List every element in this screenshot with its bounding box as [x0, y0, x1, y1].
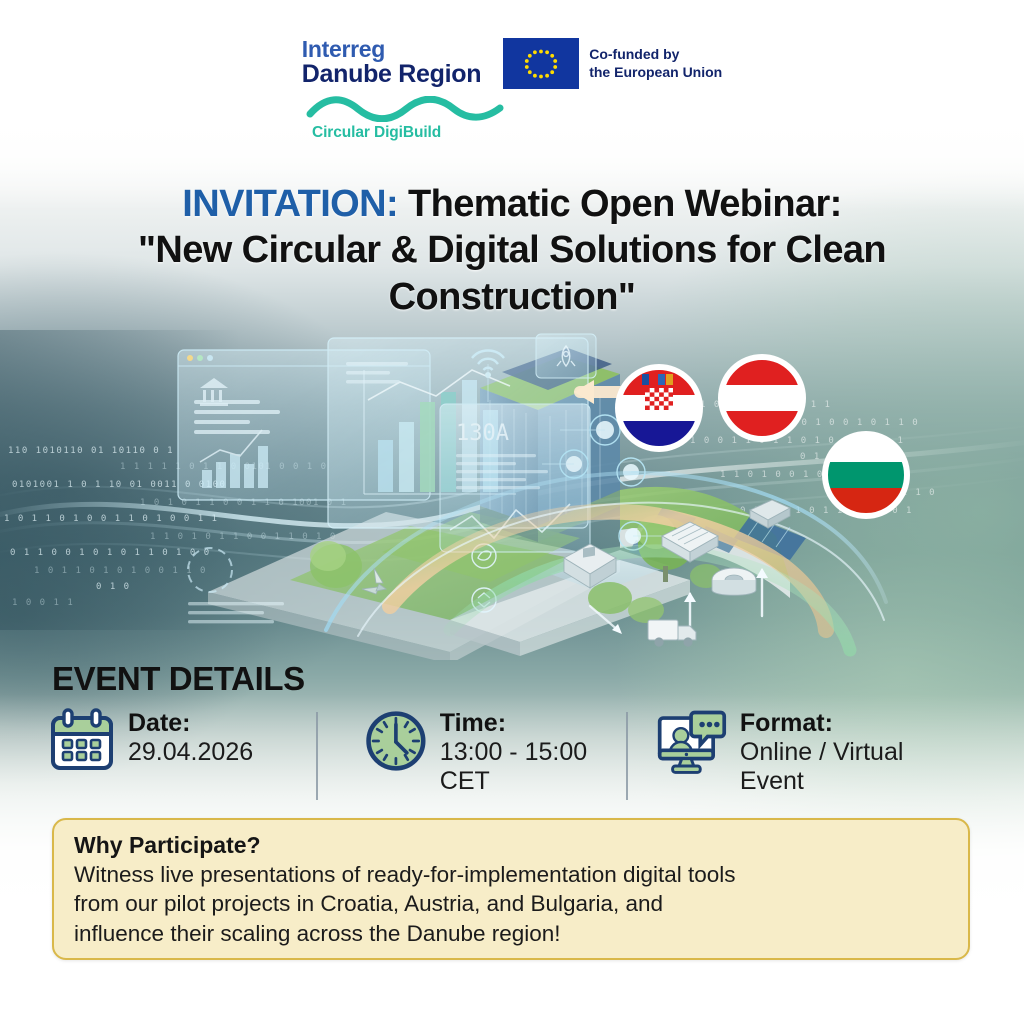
time-label: Time: — [440, 710, 626, 737]
hero-illustration: 130A — [150, 330, 910, 660]
croatia-flag — [618, 367, 700, 449]
hud-value-label: 130A — [456, 421, 509, 446]
clock-icon — [364, 706, 428, 776]
eu-label-line1: Co-funded by — [589, 46, 722, 64]
circular-digibuild-logo: Circular DigiBuild — [306, 96, 516, 142]
event-details-heading: EVENT DETAILS — [52, 660, 305, 698]
poster-canvas: 110 1010110 01 10110 0 1 1 1 1 1 1 0 1 1… — [0, 0, 1024, 1024]
donut-chart-icon — [188, 548, 232, 592]
event-detail-date: Date: 29.04.2026 — [48, 706, 316, 774]
wave-icon — [306, 96, 506, 122]
logo-row: Interreg Danube Region — [0, 36, 1024, 89]
eu-label-line2: the European Union — [589, 64, 722, 82]
title-highlight: INVITATION: — [182, 183, 398, 225]
event-details-row: Date: 29.04.2026 — [48, 706, 978, 810]
cement-ring-icon — [712, 568, 756, 595]
calendar-icon — [48, 706, 116, 774]
title-line2: "New Circular & Digital Solutions for Cl… — [138, 229, 886, 271]
format-label: Format: — [740, 710, 956, 737]
eu-cofunded-logo: Co-funded by the European Union — [503, 36, 722, 89]
title-rest-line1: Thematic Open Webinar: — [398, 183, 842, 225]
danube-region-wordmark: Danube Region — [302, 62, 481, 87]
detail-divider-2 — [626, 712, 628, 800]
event-detail-format: Format: Online / Virtual Event — [656, 706, 956, 795]
interreg-wordmark: Interreg — [302, 38, 481, 61]
why-participate-title: Why Participate? — [74, 832, 950, 860]
video-monitor-icon — [656, 706, 728, 778]
detail-divider-1 — [316, 712, 318, 800]
event-detail-time: Time: 13:00 - 15:00 CET — [364, 706, 626, 795]
why-participate-line2: from our pilot projects in Croatia, Aust… — [74, 890, 950, 919]
bulgaria-flag — [825, 434, 907, 516]
time-value: 13:00 - 15:00 CET — [440, 738, 626, 795]
why-participate-box: Why Participate? Witness live presentati… — [52, 818, 970, 960]
interreg-danube-region-logo: Interreg Danube Region — [302, 36, 481, 87]
date-label: Date: — [128, 710, 253, 737]
circular-digibuild-label: Circular DigiBuild — [312, 124, 516, 142]
why-participate-line3: influence their scaling across the Danub… — [74, 920, 950, 949]
format-value: Online / Virtual Event — [740, 738, 956, 795]
title-line3: Construction" — [389, 276, 636, 318]
austria-flag — [721, 357, 803, 439]
eu-cofunded-label: Co-funded by the European Union — [589, 46, 722, 82]
date-value: 29.04.2026 — [128, 738, 253, 767]
why-participate-line1: Witness live presentations of ready-for-… — [74, 861, 950, 890]
eu-flag-icon — [503, 38, 579, 89]
page-title: INVITATION: Thematic Open Webinar: "New … — [46, 181, 978, 320]
